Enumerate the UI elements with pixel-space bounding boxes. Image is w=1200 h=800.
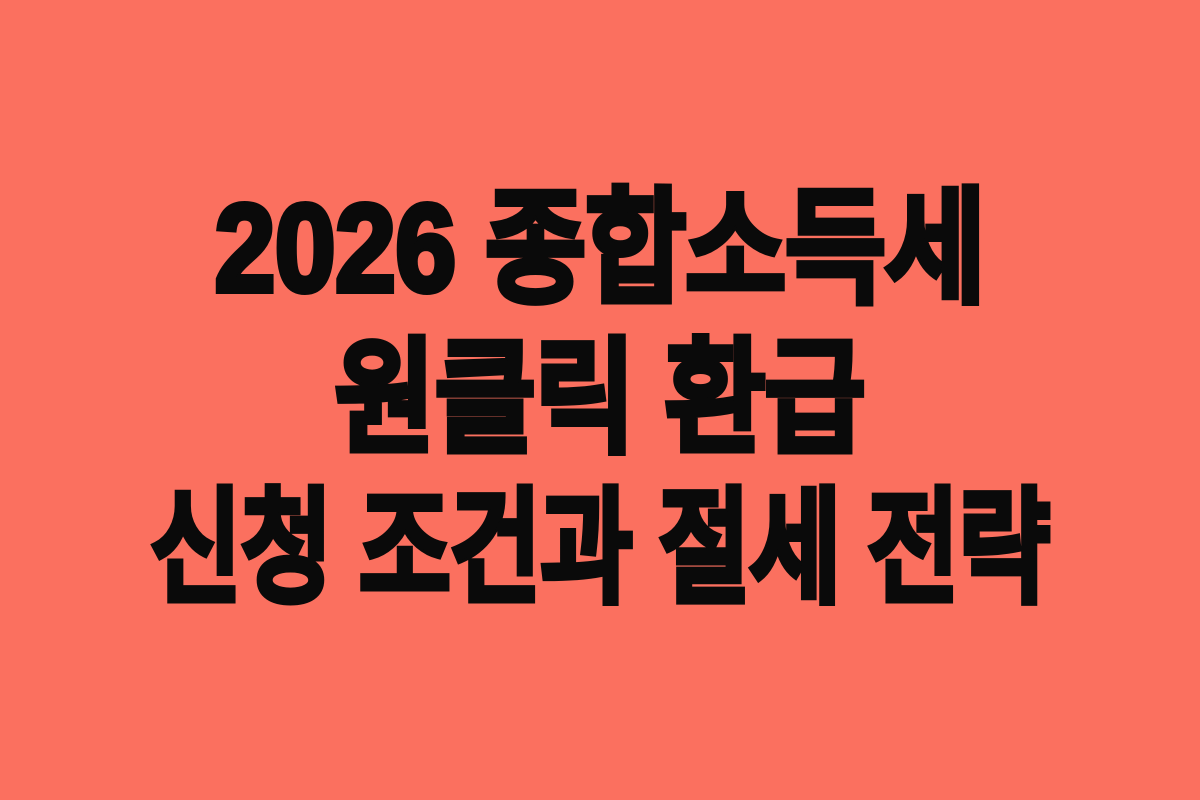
headline-line-2: 원클릭 환급 <box>72 324 1128 474</box>
headline-block: 2026 종합소득세 원클릭 환급 신청 조건과 절세 전략 <box>0 174 1200 624</box>
thumbnail-canvas: 2026 종합소득세 원클릭 환급 신청 조건과 절세 전략 <box>0 0 1200 800</box>
headline-line-1: 2026 종합소득세 <box>72 174 1128 324</box>
headline-line-3: 신청 조건과 절세 전략 <box>120 474 1080 624</box>
